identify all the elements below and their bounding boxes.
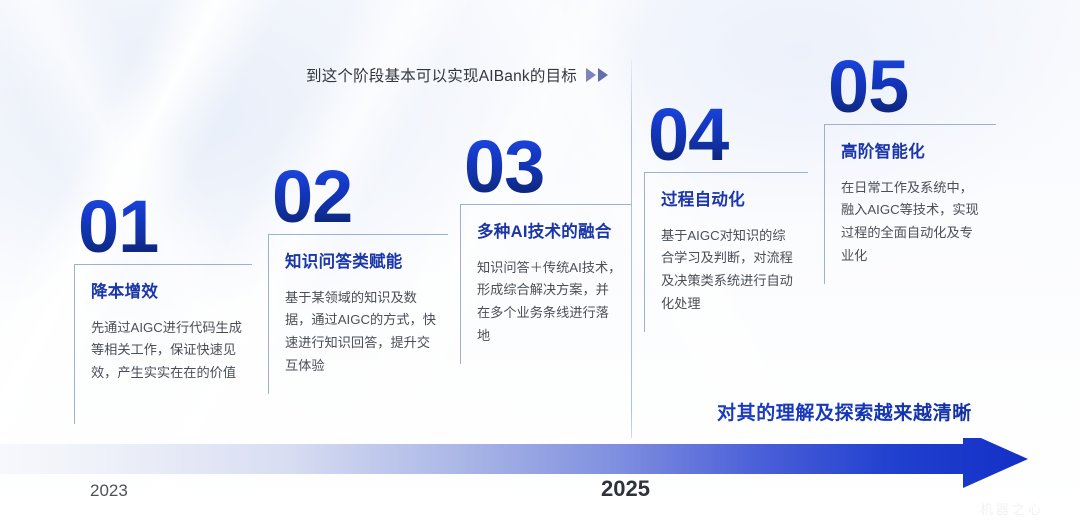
step-card-04: 过程自动化 基于AIGC对知识的综合学习及判断，对流程及决策类系统进行自动化处理 — [644, 172, 808, 332]
watermark: 机器之心 — [980, 499, 1044, 518]
step-title-01: 降本增效 — [91, 282, 242, 303]
step-number-04: 04 — [648, 104, 808, 166]
infographic-canvas: 到这个阶段基本可以实现AIBank的目标 01 降本增效 先通过AIGC进行代码… — [0, 0, 1080, 520]
step-card-01: 降本增效 先通过AIGC进行代码生成等相关工作，保证快速见效，产生实实在在的价值 — [74, 264, 252, 424]
triangle-right-icon — [586, 68, 596, 82]
step-title-03: 多种AI技术的融合 — [477, 222, 622, 243]
step-card-05: 高阶智能化 在日常工作及系统中，融入AIGC等技术，实现过程的全面自动化及专业化 — [824, 124, 996, 284]
top-annotation-label: 到这个阶段基本可以实现AIBank的目标 — [306, 64, 577, 86]
triangle-right-icon — [598, 68, 608, 82]
top-annotation-arrows — [586, 68, 608, 82]
step-item-03: 03 多种AI技术的融合 知识问答＋传统AI技术，形成综合解决方案，并在多个业务… — [460, 136, 632, 364]
step-body-04: 基于AIGC对知识的综合学习及判断，对流程及决策类系统进行自动化处理 — [661, 225, 798, 316]
timeline-start-year: 2023 — [90, 481, 128, 501]
step-number-01: 01 — [78, 196, 252, 258]
step-title-04: 过程自动化 — [661, 190, 798, 211]
step-card-03: 多种AI技术的融合 知识问答＋传统AI技术，形成综合解决方案，并在多个业务条线进… — [460, 204, 632, 364]
step-item-01: 01 降本增效 先通过AIGC进行代码生成等相关工作，保证快速见效，产生实实在在… — [74, 196, 252, 424]
step-body-05: 在日常工作及系统中，融入AIGC等技术，实现过程的全面自动化及专业化 — [841, 177, 986, 268]
step-number-02: 02 — [272, 166, 448, 228]
step-number-03: 03 — [464, 136, 632, 198]
step-body-03: 知识问答＋传统AI技术，形成综合解决方案，并在多个业务条线进行落地 — [477, 257, 622, 348]
step-item-05: 05 高阶智能化 在日常工作及系统中，融入AIGC等技术，实现过程的全面自动化及… — [824, 56, 996, 284]
step-number-05: 05 — [828, 56, 996, 118]
step-body-01: 先通过AIGC进行代码生成等相关工作，保证快速见效，产生实实在在的价值 — [91, 317, 242, 385]
step-body-02: 基于某领域的知识及数据，通过AIGC的方式，快速进行知识回答，提升交互体验 — [285, 287, 438, 378]
step-title-05: 高阶智能化 — [841, 142, 986, 163]
step-item-04: 04 过程自动化 基于AIGC对知识的综合学习及判断，对流程及决策类系统进行自动… — [644, 104, 808, 332]
step-title-02: 知识问答类赋能 — [285, 252, 438, 273]
step-item-02: 02 知识问答类赋能 基于某领域的知识及数据，通过AIGC的方式，快速进行知识回… — [268, 166, 448, 394]
timeline-end-year: 2025 — [601, 476, 650, 502]
step-card-02: 知识问答类赋能 基于某领域的知识及数据，通过AIGC的方式，快速进行知识回答，提… — [268, 234, 448, 394]
timeline-arrow — [0, 438, 1080, 498]
tagline: 对其的理解及探索越来越清晰 — [717, 398, 972, 425]
top-annotation: 到这个阶段基本可以实现AIBank的目标 — [306, 64, 608, 86]
